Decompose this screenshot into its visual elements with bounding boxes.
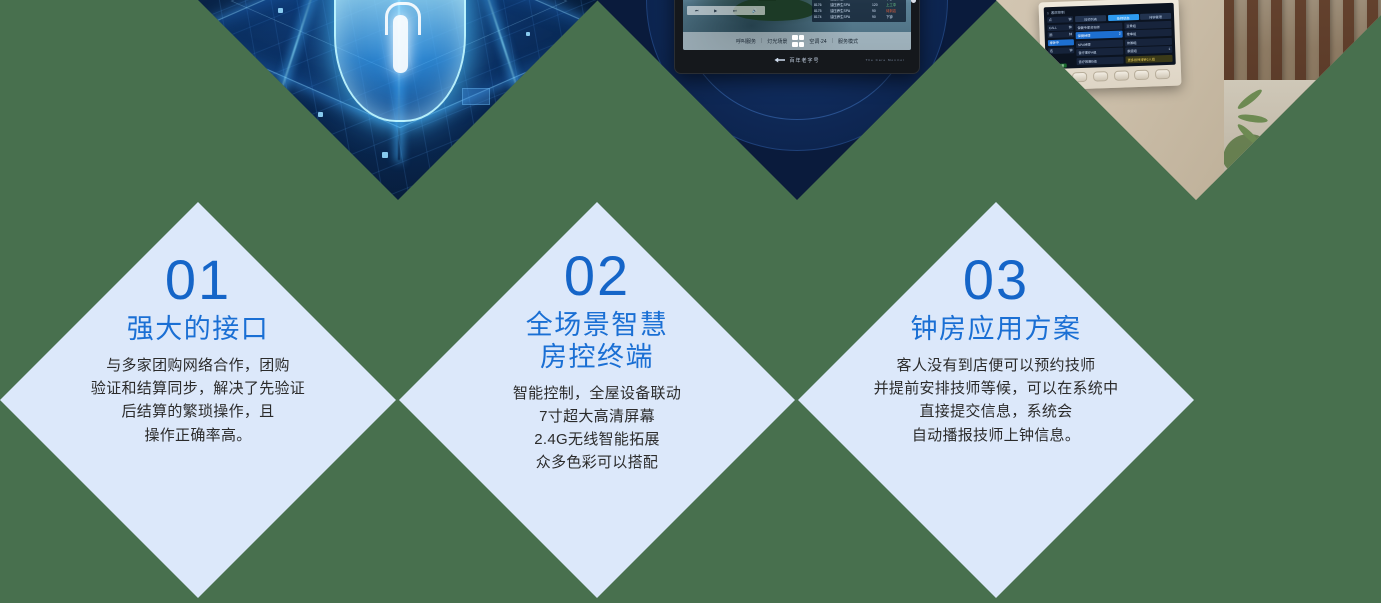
feature-card-2[interactable]: 02 全场景智慧 房控终端 智能控制，全屋设备联动 7寸超大高清屏幕 2.4G无…: [399, 202, 795, 598]
hard-button[interactable]: [1072, 71, 1087, 82]
prev-icon[interactable]: ⏮: [695, 8, 699, 13]
hard-button[interactable]: [1155, 68, 1170, 79]
sidebar-item[interactable]: 点 钟: [1047, 16, 1073, 23]
card-number: 01: [165, 252, 231, 308]
panel-screen: ⌂ 客房控制 点 钟 CALL 钟: [1044, 3, 1176, 69]
card-title: 全场景智慧 房控终端: [526, 310, 669, 374]
brand-logo-icon: [774, 58, 785, 63]
card-body-line: 7寸超大高清屏幕: [447, 405, 747, 428]
sidebar-item-active[interactable]: 排钟中: [1048, 39, 1074, 46]
card-body: 智能控制，全屋设备联动 7寸超大高清屏幕 2.4G无线智能拓展 众多色彩可以搭配: [447, 382, 747, 475]
service-mode-button[interactable]: 服务模式: [838, 38, 858, 45]
hard-button[interactable]: [1114, 70, 1129, 81]
card-body-line: 众多色彩可以搭配: [447, 451, 747, 474]
wood-slat: [1367, 0, 1378, 104]
panel-hard-buttons: [1046, 65, 1177, 87]
card-body: 客人没有到店便可以预约技师 并提前安排技师等候，可以在系统中 直接提交信息，系统…: [836, 354, 1156, 447]
panel-content: 技师列表 技师状态 排钟管理 保健专家咨询师: [1075, 13, 1173, 62]
feature-card-3[interactable]: 03 钟房应用方案 客人没有到店便可以预约技师 并提前安排技师等候，可以在系统中…: [798, 202, 1194, 598]
footer-brand-text: 百年老字号: [789, 57, 819, 64]
light-scene-button[interactable]: 灯光场景: [767, 38, 787, 45]
feature-card-1-content: 01 强大的接口 与多家团购网络合作，团购 验证和结算同步，解决了先验证 后结算…: [0, 202, 396, 598]
wood-slat: [1319, 0, 1330, 104]
divider: |: [832, 38, 833, 44]
wall-control-panel[interactable]: ⌂ 客房控制 点 钟 CALL 钟: [1039, 0, 1182, 90]
play-icon[interactable]: ▶: [714, 8, 717, 13]
feature-image-1: [198, 0, 598, 200]
volume-icon[interactable]: 🔊: [752, 8, 757, 13]
status-badge: √系统正常: [1049, 64, 1067, 69]
card-body-line: 直接提交信息，系统会: [836, 400, 1156, 423]
sidebar-item[interactable]: 圈 钟: [1048, 32, 1074, 39]
call-service-button[interactable]: 呼叫服务: [736, 38, 756, 45]
circuit-chip: [462, 88, 490, 105]
panel-sidebar: 点 钟 CALL 钟 圈 钟: [1047, 16, 1075, 63]
card-body-line: 自动播报技师上钟信息。: [836, 424, 1156, 447]
sidebar-item[interactable]: 选 钟: [1048, 47, 1074, 54]
list-item[interactable]: 家庭组 1: [1125, 46, 1172, 55]
smart-room-panel-device: CHIBO 22:35 SPA6房 19℃ 11/24: [674, 0, 920, 74]
card-title-line: 房控终端: [526, 342, 669, 374]
diamond-feature-board: CHIBO 22:35 SPA6房 19℃ 11/24: [0, 0, 1381, 603]
list-item[interactable]: 推拿组: [1125, 29, 1172, 38]
home-icon: ⌂: [1047, 11, 1049, 15]
hard-button[interactable]: [1052, 72, 1067, 83]
panel-title: 客房控制: [1051, 10, 1065, 15]
card-body-line: 客人没有到店便可以预约技师: [836, 354, 1156, 377]
aircon-button[interactable]: 空调·24: [809, 38, 826, 45]
card-body-line: 智能控制，全屋设备联动: [447, 382, 747, 405]
circuit-dot: [318, 112, 323, 117]
grid-menu-icon[interactable]: [792, 35, 804, 47]
feature-card-2-content: 02 全场景智慧 房控终端 智能控制，全屋设备联动 7寸超大高清屏幕 2.4G无…: [399, 202, 795, 598]
tab-technician-status[interactable]: 技师状态: [1107, 14, 1138, 21]
list-item[interactable]: 保健专家咨询师: [1075, 22, 1122, 31]
panel-column-right: 正骨组 推拿组 修脚组: [1124, 20, 1172, 63]
scene-room-control-terminal: CHIBO 22:35 SPA6房 19℃ 11/24: [597, 0, 997, 200]
wallpaper-tree: [758, 0, 776, 1]
list-item[interactable]: 音疗理疗A组: [1076, 48, 1123, 57]
panel-columns: 保健专家咨询师 保健经理 2 SPA经理: [1075, 20, 1172, 64]
media-control-bar[interactable]: ⏮ ▶ ⏭ 🔊: [687, 6, 765, 15]
footer-right-text: The Care Monitor: [866, 58, 905, 62]
plant-leaf: [1288, 125, 1318, 144]
card-title-line: 全场景智慧: [526, 310, 669, 342]
service-table: 客人 项目 时长 状态 8179 油压养生SPA 90 下钟 8178: [812, 0, 906, 22]
device-power-button[interactable]: [911, 0, 916, 3]
panel-body: 点 钟 CALL 钟 圈 钟: [1047, 13, 1173, 63]
next-icon[interactable]: ⏭: [733, 8, 737, 13]
wood-slat: [1343, 0, 1354, 104]
screen-bottom-bar: 呼叫服务 | 灯光场景 空调·24 | 服务模式: [683, 32, 911, 50]
card-number: 02: [564, 248, 630, 304]
feature-card-1[interactable]: 01 强大的接口 与多家团购网络合作，团购 验证和结算同步，解决了先验证 后结算…: [0, 202, 396, 598]
tab-technician-list[interactable]: 技师列表: [1075, 15, 1106, 22]
panel-column-left: 保健专家咨询师 保健经理 2 SPA经理: [1075, 22, 1123, 65]
circuit-dot: [526, 32, 530, 36]
tab-queue-management[interactable]: 排钟管理: [1140, 13, 1171, 20]
card-number: 03: [963, 252, 1029, 308]
table-row: 8174 油压养生SPA 90 下钟: [814, 15, 904, 21]
card-title: 钟房应用方案: [911, 314, 1082, 346]
card-body-line: 后结算的繁琐操作，且: [33, 400, 363, 423]
device-screen: 22:35 SPA6房 19℃ 11/24 客人 项目 时长 状态: [683, 0, 911, 50]
card-body: 与多家团购网络合作，团购 验证和结算同步，解决了先验证 后结算的繁琐操作，且 操…: [33, 354, 363, 447]
feature-image-2: CHIBO 22:35 SPA6房 19℃ 11/24: [597, 0, 997, 200]
sidebar-item[interactable]: CALL 钟: [1047, 24, 1073, 31]
card-body-line: 验证和结算同步，解决了先验证: [33, 377, 363, 400]
card-body-line: 操作正确率高。: [33, 424, 363, 447]
hard-button[interactable]: [1134, 69, 1149, 80]
list-item[interactable]: SPA经理: [1076, 39, 1123, 48]
card-body-line: 并提前安排技师等候，可以在系统中: [836, 377, 1156, 400]
divider: |: [761, 38, 762, 44]
card-body-line: 2.4G无线智能拓展: [447, 428, 747, 451]
feature-card-3-content: 03 钟房应用方案 客人没有到店便可以预约技师 并提前安排技师等候，可以在系统中…: [798, 202, 1194, 598]
circuit-dot: [278, 8, 283, 13]
interior-background: [1212, 0, 1381, 200]
list-item[interactable]: 修脚组: [1125, 37, 1172, 46]
hard-button[interactable]: [1093, 71, 1108, 82]
circuit-dot: [382, 152, 388, 158]
plant-leaf: [1288, 145, 1318, 164]
plant: [1275, 146, 1341, 192]
device-footer: 百年老字号 The Care Monitor: [683, 50, 911, 70]
scene-security-hologram: [198, 0, 598, 200]
list-item[interactable]: 正骨组: [1124, 20, 1171, 29]
feature-image-3: ⌂ 客房控制 点 钟 CALL 钟: [996, 0, 1381, 200]
card-body-line: 与多家团购网络合作，团购: [33, 354, 363, 377]
scene-wall-mounted-panel: ⌂ 客房控制 点 钟 CALL 钟: [996, 0, 1381, 200]
card-title: 强大的接口: [127, 314, 270, 346]
list-item-selected[interactable]: 保健经理 2: [1076, 31, 1123, 40]
